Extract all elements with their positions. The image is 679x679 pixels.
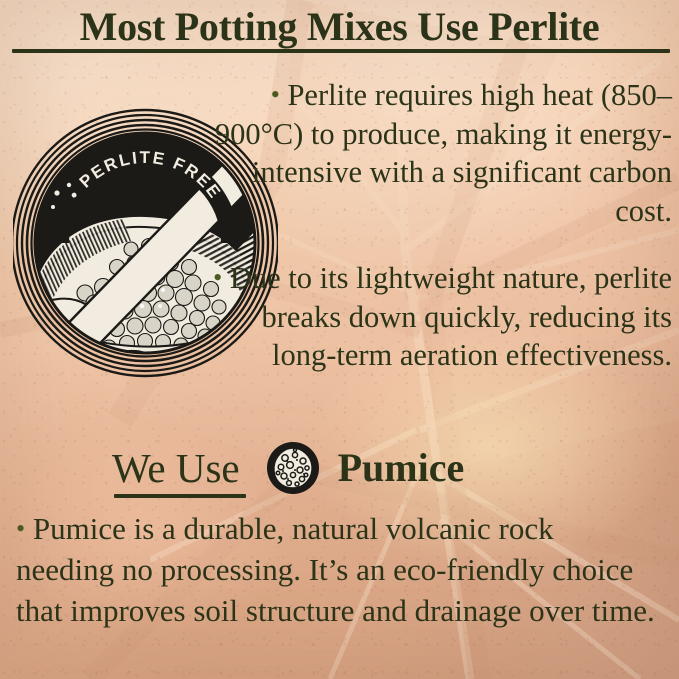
pumice-benefits-paragraph: • Pumice is a durable, natural volcanic … (16, 508, 656, 631)
list-item-text: Perlite requires high heat (850–900°C) t… (215, 78, 672, 228)
we-use-label-wrap: We Use (112, 444, 240, 492)
title-block: Most Potting Mixes Use Perlite (0, 4, 679, 50)
list-item: • Perlite requires high heat (850–900°C)… (196, 76, 672, 230)
pumice-word: Pumice (338, 445, 465, 491)
content-layer: Most Potting Mixes Use Perlite (0, 0, 679, 679)
title-underline-rule (12, 49, 670, 53)
list-item: • Due to its lightweight nature, perlite… (196, 259, 672, 375)
pumice-rock-icon (266, 441, 320, 495)
we-use-underline-rule (114, 494, 246, 498)
list-spacer (196, 230, 672, 259)
infographic-root: Most Potting Mixes Use Perlite (0, 0, 679, 679)
pumice-benefits-text: Pumice is a durable, natural volcanic ro… (16, 511, 655, 628)
bullet-marker: • (16, 514, 25, 543)
bullet-marker: • (271, 80, 280, 109)
bullet-marker: • (213, 263, 222, 292)
perlite-drawbacks-list: • Perlite requires high heat (850–900°C)… (196, 76, 672, 375)
we-use-pumice-row: We Use Pumice (112, 440, 464, 496)
list-item-text: Due to its lightweight nature, perlite b… (230, 261, 672, 372)
we-use-label: We Use (112, 445, 240, 491)
page-title: Most Potting Mixes Use Perlite (0, 4, 679, 50)
